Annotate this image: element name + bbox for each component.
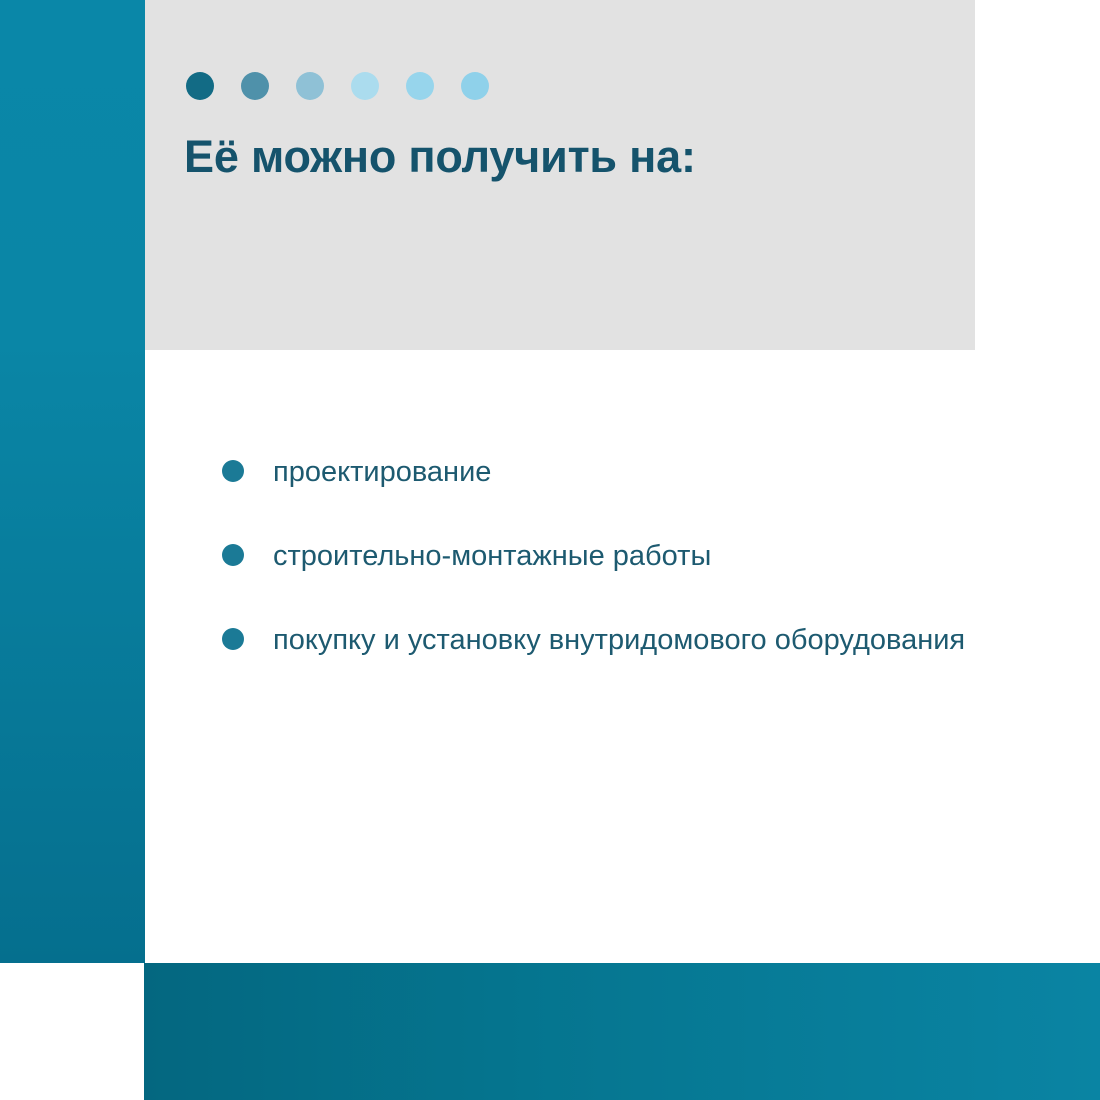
list-item-label: покупку и установку внутридомового обору…	[273, 618, 965, 662]
list-item: строительно-монтажные работы	[222, 534, 982, 578]
bullet-dot-icon	[222, 628, 244, 650]
decorative-dot-3	[296, 72, 324, 100]
list-item: покупку и установку внутридомового обору…	[222, 618, 982, 662]
decorative-dot-1	[186, 72, 214, 100]
decorative-dot-5	[406, 72, 434, 100]
slide-canvas: Её можно получить на: проектирование стр…	[0, 0, 1100, 1100]
decorative-dot-row	[186, 72, 489, 100]
list-item-label: строительно-монтажные работы	[273, 534, 711, 578]
left-accent-bar	[0, 0, 145, 963]
list-item-label: проектирование	[273, 450, 491, 494]
list-item: проектирование	[222, 450, 982, 494]
decorative-dot-4	[351, 72, 379, 100]
bullet-dot-icon	[222, 544, 244, 566]
slide-title: Её можно получить на:	[184, 131, 696, 183]
bullet-list: проектирование строительно-монтажные раб…	[222, 450, 982, 662]
bottom-accent-bar	[144, 963, 1100, 1100]
decorative-dot-2	[241, 72, 269, 100]
decorative-dot-6	[461, 72, 489, 100]
bullet-dot-icon	[222, 460, 244, 482]
